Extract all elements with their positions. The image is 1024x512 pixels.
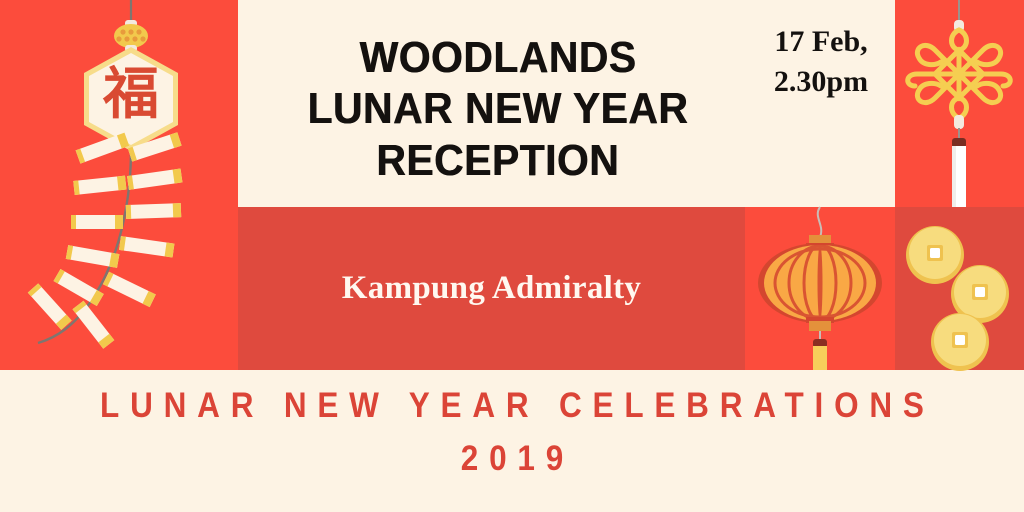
lantern-svg <box>745 207 895 370</box>
title-line-2: LUNAR NEW YEAR <box>308 83 689 134</box>
chinese-knot-svg <box>895 0 1024 207</box>
chinese-knot-decoration <box>895 0 1024 207</box>
paper-lantern-decoration <box>745 207 895 370</box>
event-venue: Kampung Admiralty <box>238 207 745 370</box>
title-line-3: RECEPTION <box>377 135 620 186</box>
firecracker-string-decoration: 福 <box>0 0 238 370</box>
knot-tassel <box>952 138 966 207</box>
knot-loops <box>908 30 1011 118</box>
firecracker-items <box>28 132 183 348</box>
time-line: 2.30pm <box>752 62 890 102</box>
firecracker-svg: 福 <box>0 0 238 370</box>
lantern-tassel <box>813 339 827 370</box>
footer-caption: LUNAR NEW YEAR CELEBRATIONS 2019 <box>0 380 1024 485</box>
footer-line-1: LUNAR NEW YEAR CELEBRATIONS <box>51 380 973 433</box>
event-datetime: 17 Feb, 2.30pm <box>752 22 890 101</box>
gold-coins-decoration <box>895 207 1024 370</box>
date-line: 17 Feb, <box>752 22 890 62</box>
poster-canvas: 福 <box>0 0 1024 512</box>
coin-3 <box>931 313 989 371</box>
coins-svg <box>895 207 1024 370</box>
coin-1 <box>906 226 964 284</box>
footer-line-2: 2019 <box>51 433 973 486</box>
event-title: WOODLANDS LUNAR NEW YEAR RECEPTION <box>258 14 738 204</box>
title-line-1: WOODLANDS <box>360 32 637 83</box>
fu-character: 福 <box>102 62 159 127</box>
